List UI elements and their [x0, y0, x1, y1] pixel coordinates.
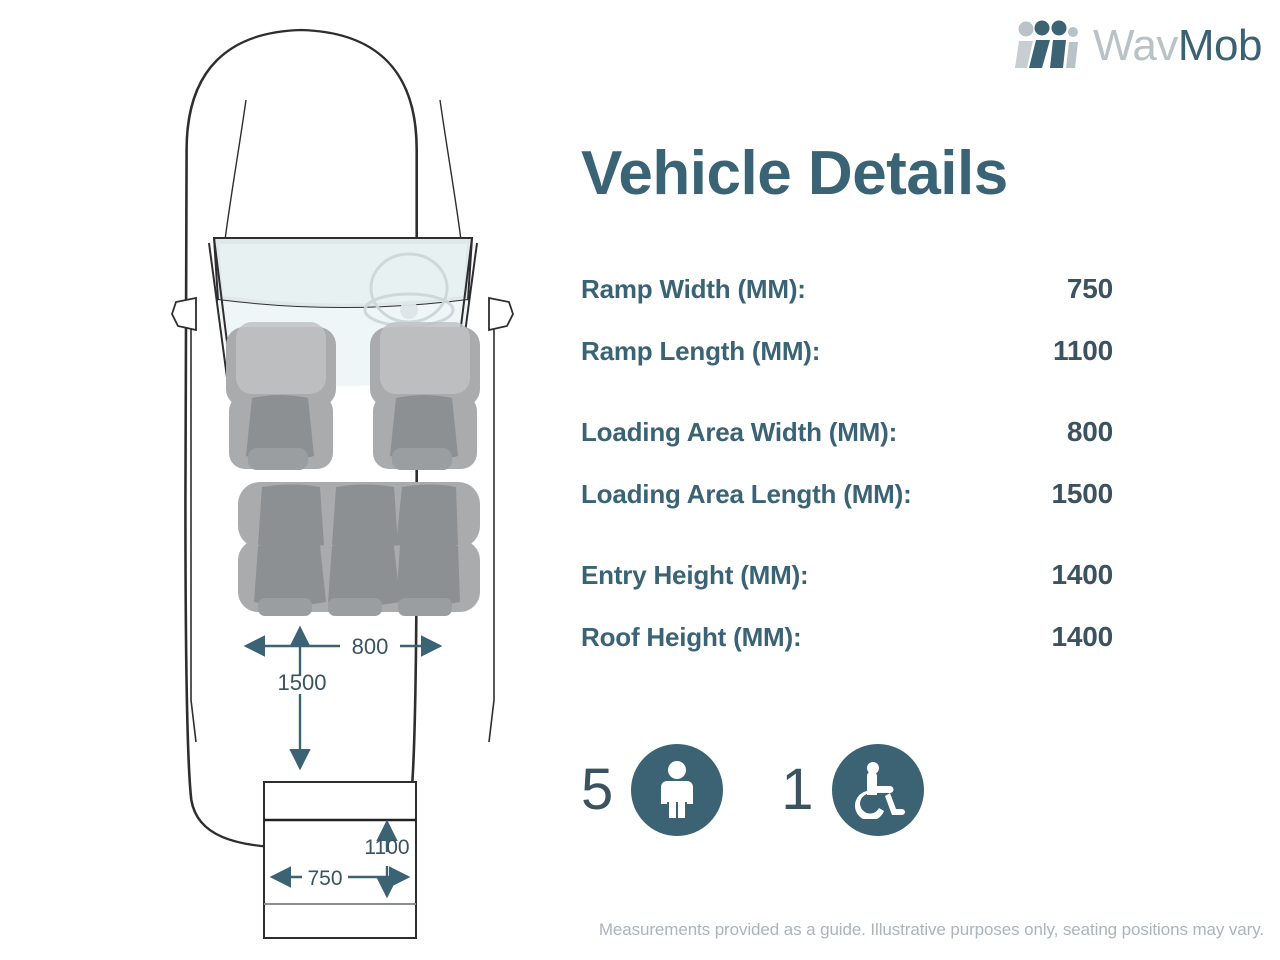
capacity-summary: 5 1	[581, 744, 924, 836]
spec-label: Loading Area Length (MM):	[581, 479, 912, 510]
spec-label: Loading Area Width (MM):	[581, 417, 897, 448]
vehicle-diagram: 800 1500 1100	[0, 0, 540, 960]
spec-row-entry-height: Entry Height (MM): 1400	[581, 559, 1113, 621]
vehicle-details-page: WavMob	[0, 0, 1280, 960]
dimension-label-800: 800	[352, 634, 389, 659]
disclaimer-text: Measurements provided as a guide. Illust…	[0, 920, 1264, 940]
specs-list: Ramp Width (MM): 750 Ramp Length (MM): 1…	[581, 273, 1113, 683]
person-icon	[631, 744, 723, 836]
page-title: Vehicle Details	[581, 143, 1008, 205]
spec-label: Ramp Width (MM):	[581, 274, 806, 305]
spec-label: Entry Height (MM):	[581, 560, 808, 591]
spec-value: 1400	[1003, 621, 1113, 653]
spec-row-roof-height: Roof Height (MM): 1400	[581, 621, 1113, 683]
spec-row-loading-area-width: Loading Area Width (MM): 800	[581, 416, 1113, 478]
spec-row-loading-area-length: Loading Area Length (MM): 1500	[581, 478, 1113, 540]
spec-row-ramp-length: Ramp Length (MM): 1100	[581, 335, 1113, 397]
wheelchair-icon	[832, 744, 924, 836]
spec-label: Ramp Length (MM):	[581, 336, 820, 367]
details-panel: Vehicle Details Ramp Width (MM): 750 Ram…	[560, 0, 1280, 960]
seated-capacity-count: 5	[581, 761, 613, 819]
ramp-outline	[264, 782, 416, 938]
spec-value: 1100	[1003, 335, 1113, 367]
spec-value: 1400	[1003, 559, 1113, 591]
spec-value: 1500	[1003, 478, 1113, 510]
front-seat-left	[226, 322, 336, 470]
dimension-label-1100: 1100	[364, 836, 409, 859]
spec-row-ramp-width: Ramp Width (MM): 750	[581, 273, 1113, 335]
dimension-label-1500: 1500	[278, 670, 327, 695]
spec-label: Roof Height (MM):	[581, 622, 801, 653]
wheelchair-capacity-count: 1	[781, 761, 813, 819]
rear-bench-seats	[238, 482, 480, 616]
dimension-label-750: 750	[307, 867, 342, 890]
front-seat-right	[370, 322, 480, 470]
spec-value: 800	[1003, 416, 1113, 448]
spec-value: 750	[1003, 273, 1113, 305]
